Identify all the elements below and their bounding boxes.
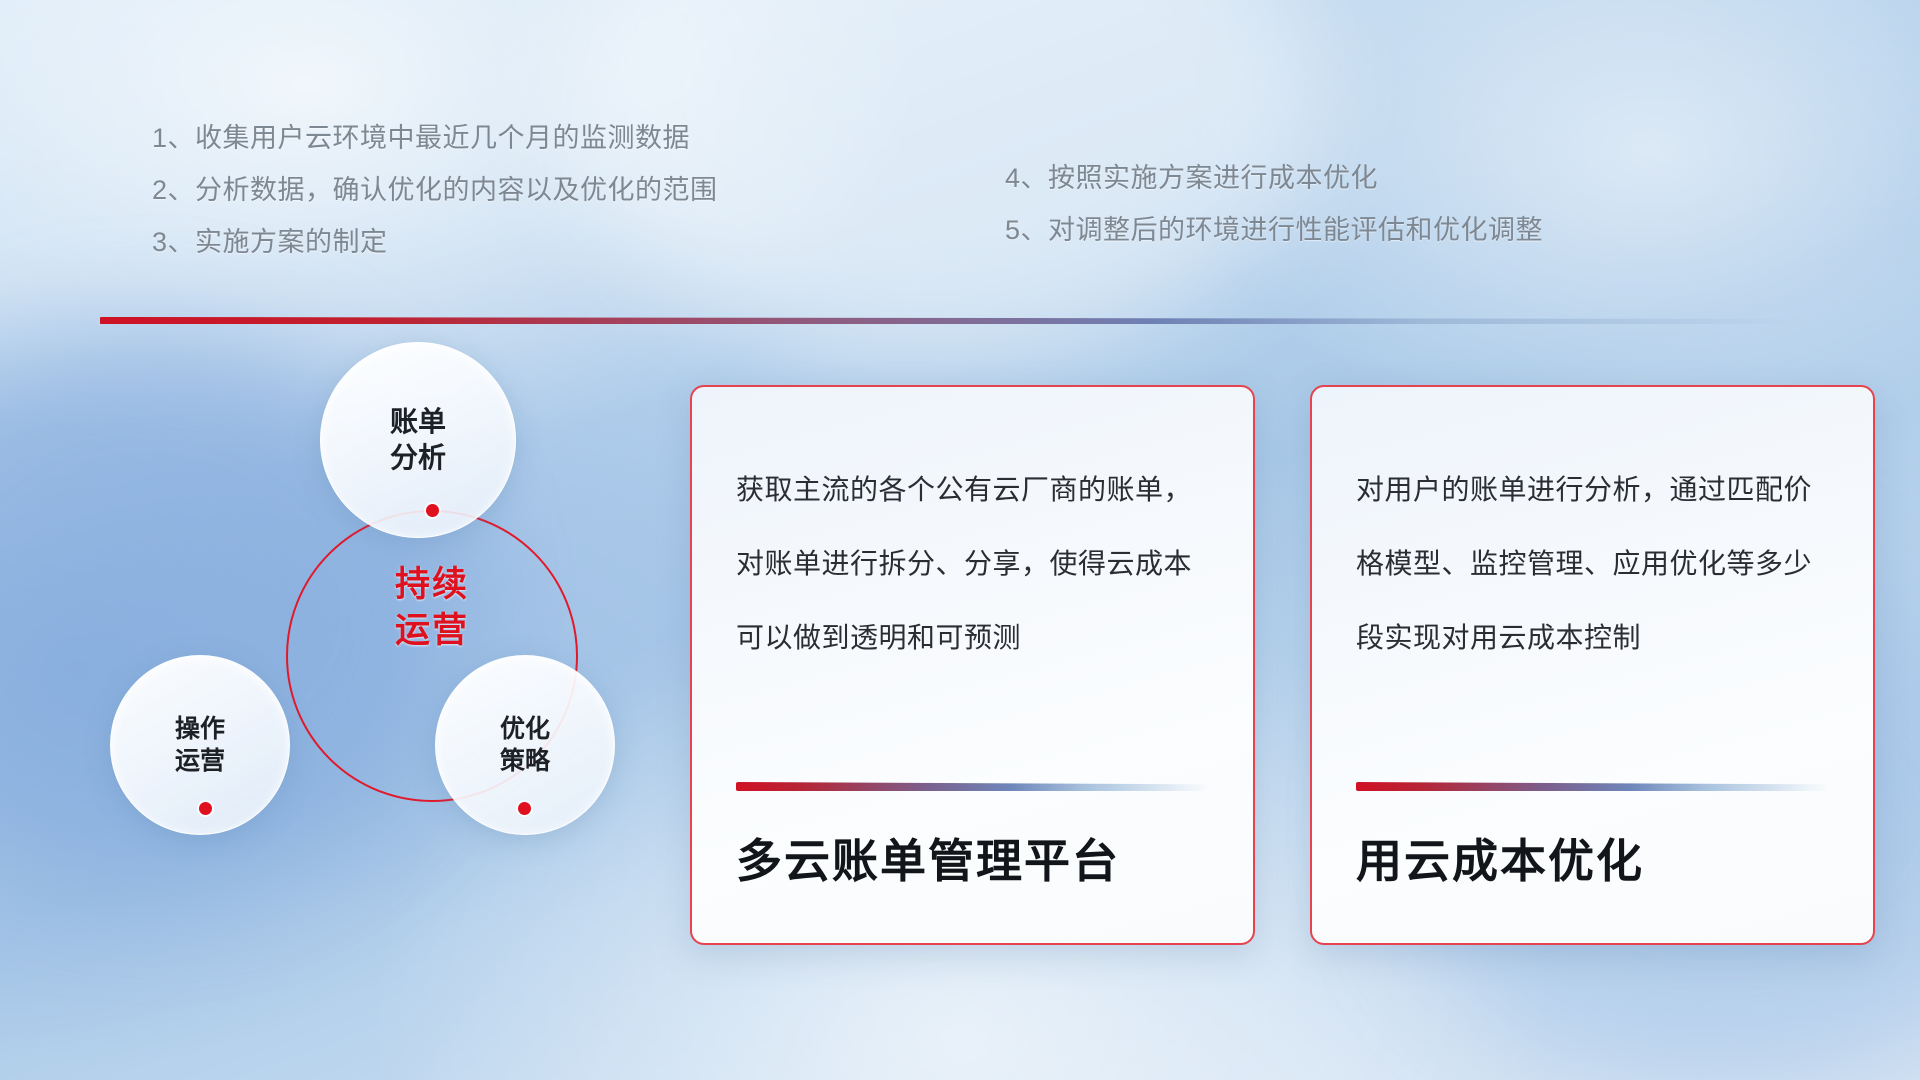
card-multicloud-billing-body: 获取主流的各个公有云厂商的账单，对账单进行拆分、分享，使得云成本可以做到透明和可… <box>736 453 1209 675</box>
card-multicloud-billing[interactable]: 获取主流的各个公有云厂商的账单，对账单进行拆分、分享，使得云成本可以做到透明和可… <box>690 385 1255 945</box>
card-cloud-cost-optimization-underline <box>1356 782 1829 791</box>
step-item-4: 4、按照实施方案进行成本优化 <box>1005 152 1543 204</box>
continuous-operation-diagram: 持续 运营 账单 分析 操作 运营 优化 策略 <box>90 350 650 950</box>
bubble-operations-line-1: 操作 <box>175 713 225 745</box>
center-label-line-2: 运营 <box>286 608 578 654</box>
bubble-optimization-strategy-line-1: 优化 <box>500 713 550 745</box>
steps-column-left: 1、收集用户云环境中最近几个月的监测数据 2、分析数据，确认优化的内容以及优化的… <box>152 112 718 268</box>
bubble-optimization-strategy-line-2: 策略 <box>500 745 550 777</box>
bubble-bill-analysis[interactable]: 账单 分析 <box>320 342 516 538</box>
card-spacer <box>736 675 1209 782</box>
step-item-5: 5、对调整后的环境进行性能评估和优化调整 <box>1005 204 1543 256</box>
center-label-line-1: 持续 <box>286 562 578 608</box>
card-cloud-cost-optimization[interactable]: 对用户的账单进行分析，通过匹配价格模型、监控管理、应用优化等多少段实现对用云成本… <box>1310 385 1875 945</box>
diagram-center-label: 持续 运营 <box>286 562 578 653</box>
steps-column-right: 4、按照实施方案进行成本优化 5、对调整后的环境进行性能评估和优化调整 <box>1005 152 1543 256</box>
card-multicloud-billing-title: 多云账单管理平台 <box>736 825 1209 943</box>
card-cloud-cost-optimization-body: 对用户的账单进行分析，通过匹配价格模型、监控管理、应用优化等多少段实现对用云成本… <box>1356 453 1829 675</box>
step-item-1: 1、收集用户云环境中最近几个月的监测数据 <box>152 112 718 164</box>
bubble-bill-analysis-line-1: 账单 <box>390 404 446 440</box>
card-multicloud-billing-underline <box>736 782 1209 791</box>
card-cloud-cost-optimization-title: 用云成本优化 <box>1356 825 1829 943</box>
bubble-bill-analysis-line-2: 分析 <box>390 440 446 476</box>
node-dot-top-icon <box>426 504 439 517</box>
step-item-3: 3、实施方案的制定 <box>152 216 718 268</box>
card-spacer <box>1356 675 1829 782</box>
step-item-2: 2、分析数据，确认优化的内容以及优化的范围 <box>152 164 718 216</box>
bubble-operations-line-2: 运营 <box>175 745 225 777</box>
node-dot-right-icon <box>518 802 531 815</box>
node-dot-left-icon <box>199 802 212 815</box>
